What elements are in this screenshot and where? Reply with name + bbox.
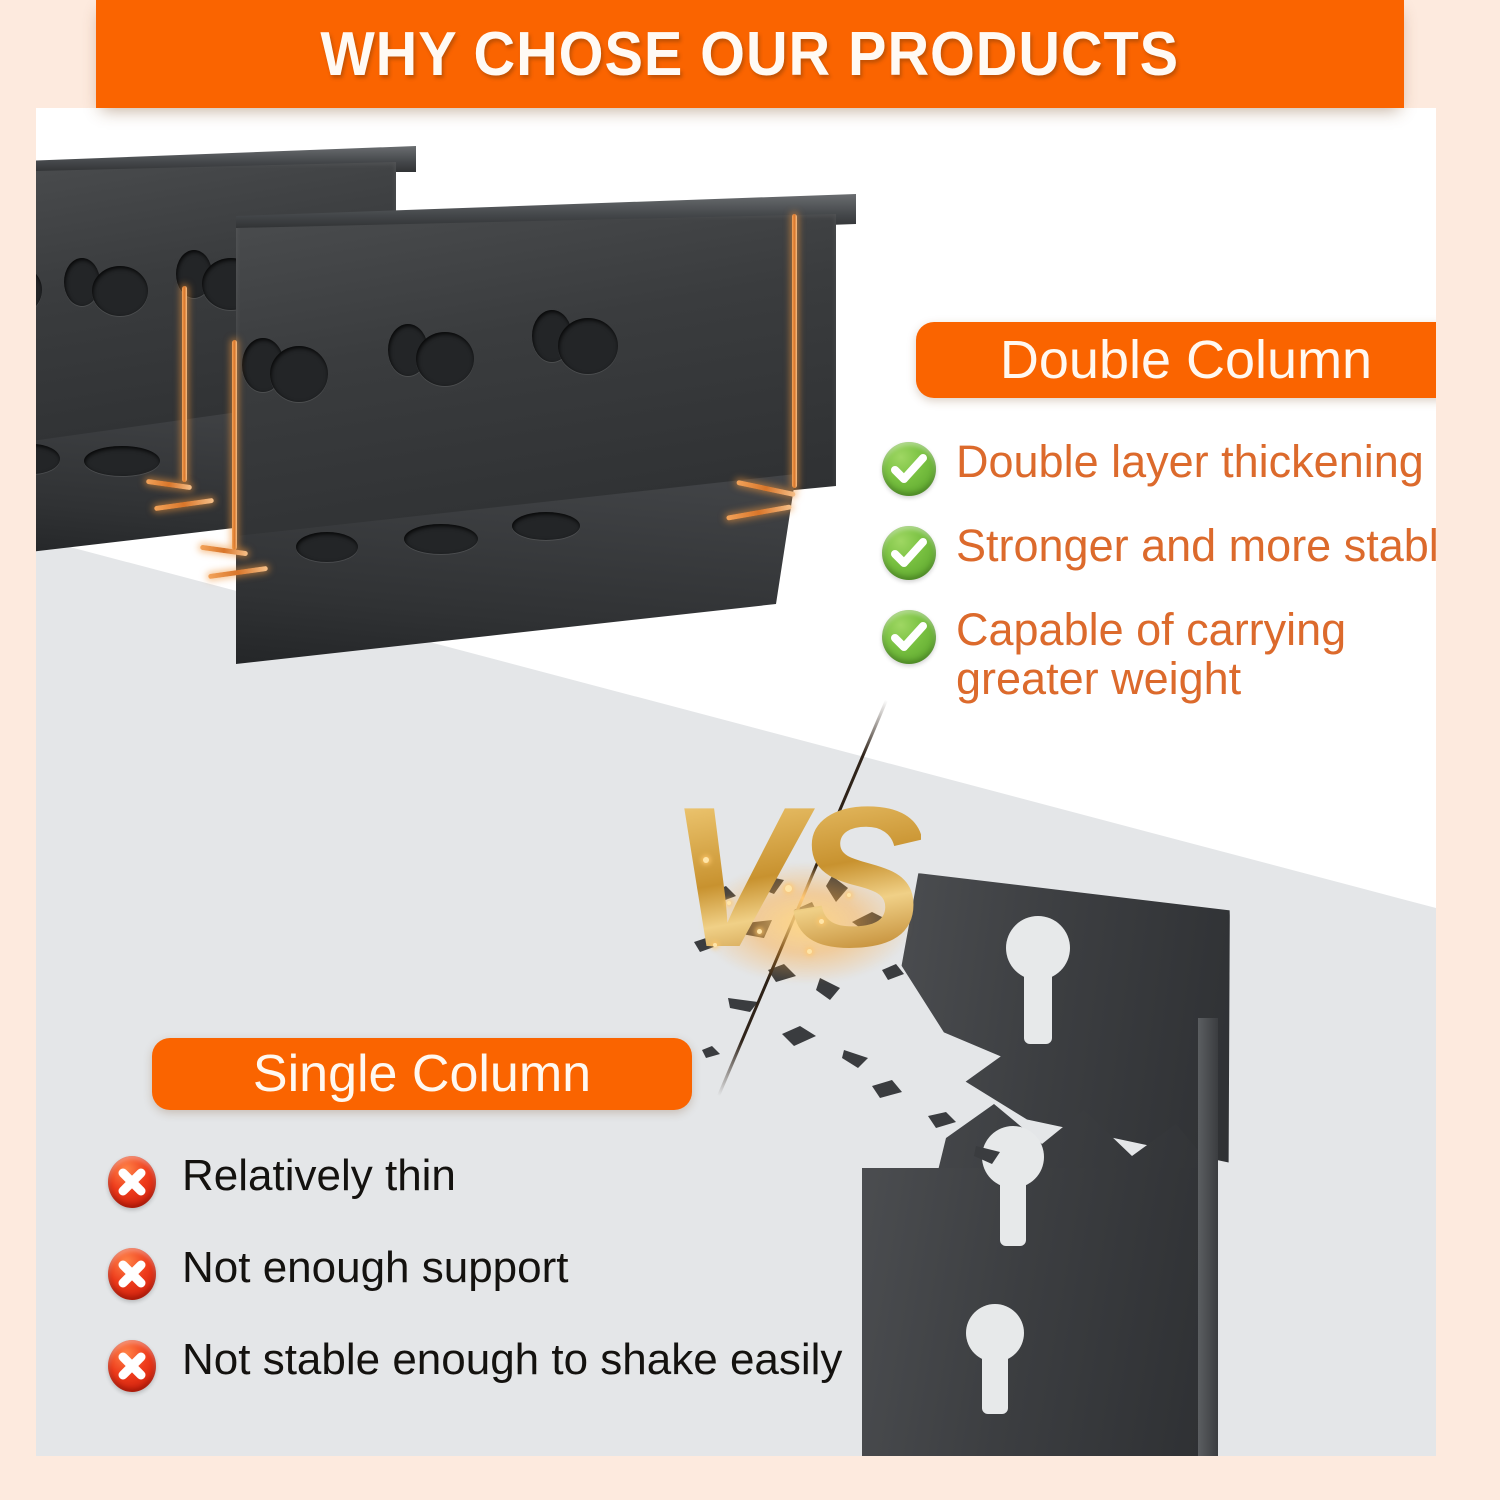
check-icon bbox=[882, 442, 936, 496]
cross-icon bbox=[108, 1248, 156, 1300]
list-item-label: Capable of carrying greater weight bbox=[956, 606, 1376, 703]
spark-dot bbox=[847, 893, 851, 897]
single-column-drawbacks-list: Relatively thin Not enough support Not s… bbox=[108, 1152, 928, 1428]
double-column-beam-photo bbox=[36, 146, 836, 646]
debris-fragment bbox=[702, 1046, 720, 1058]
spark-dot bbox=[807, 949, 812, 954]
versus-label: VS bbox=[661, 753, 921, 1003]
list-item: Double layer thickening bbox=[882, 438, 1436, 496]
keyhole-slot-3 bbox=[966, 1304, 1024, 1414]
list-item-label: Stronger and more stable bbox=[956, 522, 1436, 571]
content-card: VS Double Column Double layer thickening bbox=[36, 108, 1436, 1456]
list-item: Stronger and more stable bbox=[882, 522, 1436, 580]
spark-dot bbox=[703, 857, 709, 863]
spark-dot bbox=[757, 929, 762, 934]
single-column-pill: Single Column bbox=[152, 1038, 692, 1110]
infographic-poster: VS Double Column Double layer thickening bbox=[0, 0, 1500, 1500]
cross-icon bbox=[108, 1156, 156, 1208]
debris-fragment bbox=[872, 1080, 902, 1098]
spark-dot bbox=[727, 901, 731, 905]
double-column-pill-label: Double Column bbox=[1000, 329, 1372, 391]
list-item: Capable of carrying greater weight bbox=[882, 606, 1436, 703]
debris-fragment bbox=[842, 1050, 868, 1068]
list-item: Relatively thin bbox=[108, 1152, 928, 1208]
spark-dot bbox=[713, 943, 717, 947]
spark-dot bbox=[785, 885, 792, 892]
list-item-label: Not enough support bbox=[182, 1244, 569, 1292]
header-banner: WHY CHOSE OUR PRODUCTS bbox=[96, 0, 1404, 108]
beam-front bbox=[236, 194, 856, 714]
page-title: WHY CHOSE OUR PRODUCTS bbox=[321, 19, 1180, 90]
cross-icon bbox=[108, 1340, 156, 1392]
double-column-benefits-list: Double layer thickening Stronger and mor… bbox=[882, 438, 1436, 729]
list-item-label: Not stable enough to shake easily bbox=[182, 1336, 842, 1384]
check-icon bbox=[882, 610, 936, 664]
versus-emblem: VS bbox=[661, 753, 921, 1003]
single-column-pill-label: Single Column bbox=[253, 1044, 591, 1104]
keyhole-slot-1 bbox=[1006, 916, 1070, 1044]
list-item-label: Double layer thickening bbox=[956, 438, 1424, 487]
spark-dot bbox=[819, 919, 824, 924]
list-item-label: Relatively thin bbox=[182, 1152, 456, 1200]
check-icon bbox=[882, 526, 936, 580]
list-item: Not stable enough to shake easily bbox=[108, 1336, 928, 1392]
list-item: Not enough support bbox=[108, 1244, 928, 1300]
double-column-pill: Double Column bbox=[916, 322, 1436, 398]
debris-fragment bbox=[782, 1026, 816, 1046]
